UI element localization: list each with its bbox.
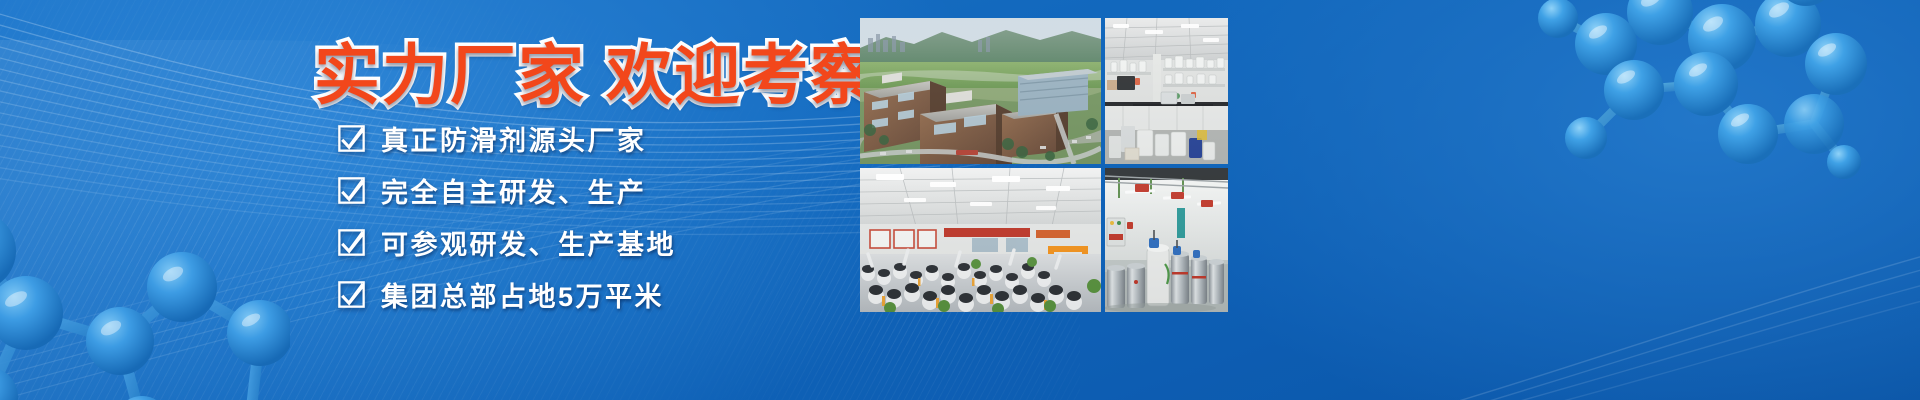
photo-laboratory[interactable] (1105, 18, 1228, 164)
photo-staff-assembly[interactable] (860, 168, 1101, 312)
list-item: 真正防滑剂源头厂家 (338, 116, 868, 160)
checkbox-checked-icon (338, 177, 365, 204)
list-item-label: 真正防滑剂源头厂家 (381, 119, 647, 158)
checkbox-checked-icon (338, 281, 365, 308)
list-item: 集团总部占地5万平米 (338, 272, 868, 316)
checkbox-checked-icon (338, 229, 365, 256)
page-title: 实力厂家 欢迎考察 (336, 24, 856, 116)
list-item: 可参观研发、生产基地 (338, 220, 868, 264)
list-item-label: 完全自主研发、生产 (381, 171, 647, 210)
photo-aerial-campus[interactable] (860, 18, 1101, 164)
feature-bullet-list: 真正防滑剂源头厂家 完全自主研发、生产 可参观研发、生产基地 (338, 116, 868, 316)
list-item-label: 可参观研发、生产基地 (381, 223, 676, 262)
promo-banner: 实力厂家 欢迎考察 真正防滑剂源头厂家 完全自主研发、生产 (0, 0, 1920, 400)
list-item-label: 集团总部占地5万平米 (381, 275, 664, 314)
molecule-graphic-left-icon (0, 215, 290, 400)
photo-production-tanks[interactable] (1105, 168, 1228, 312)
list-item: 完全自主研发、生产 (338, 168, 868, 212)
photo-grid (860, 18, 1228, 312)
checkbox-checked-icon (338, 125, 365, 152)
molecule-graphic-right-icon (1476, 0, 1906, 232)
wave-line-fan-right-icon (1360, 180, 1920, 400)
